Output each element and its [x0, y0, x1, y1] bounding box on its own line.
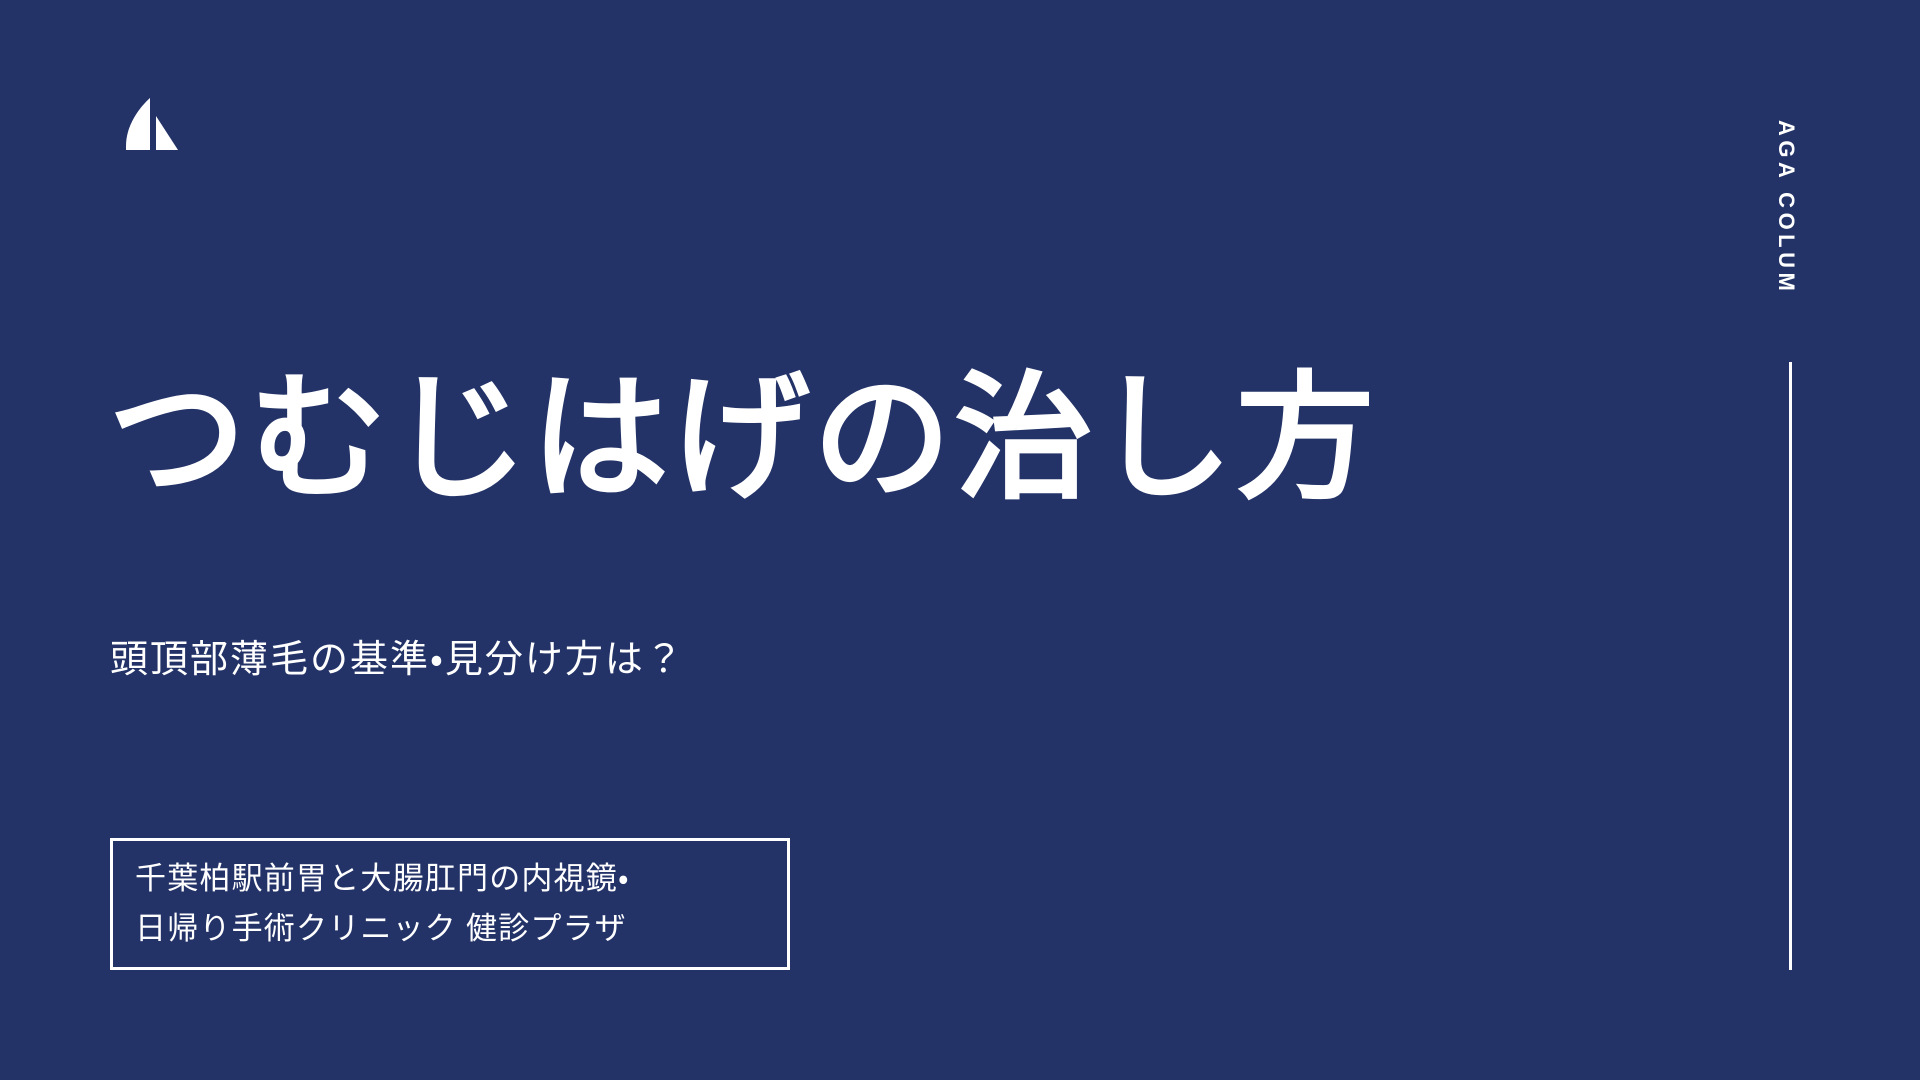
side-label-text: AGA COLUM — [1775, 120, 1797, 295]
vertical-divider — [1789, 362, 1792, 970]
hero-card: AGA COLUM つむじはげの治し方 頭頂部薄毛の基準・見分け方は？ 千葉柏駅… — [0, 0, 1920, 1080]
side-label: AGA COLUM — [1756, 120, 1816, 350]
clinic-name-line-2: 日帰り手術クリニック 健診プラザ — [135, 904, 627, 954]
page-title: つむじはげの治し方 — [108, 362, 1377, 517]
clinic-name-line-1: 千葉柏駅前胃と大腸肛門の内視鏡・ — [135, 854, 630, 904]
sailboat-icon — [112, 96, 180, 158]
page-subtitle: 頭頂部薄毛の基準・見分け方は？ — [110, 634, 685, 687]
clinic-name-box: 千葉柏駅前胃と大腸肛門の内視鏡・ 日帰り手術クリニック 健診プラザ — [110, 838, 790, 970]
